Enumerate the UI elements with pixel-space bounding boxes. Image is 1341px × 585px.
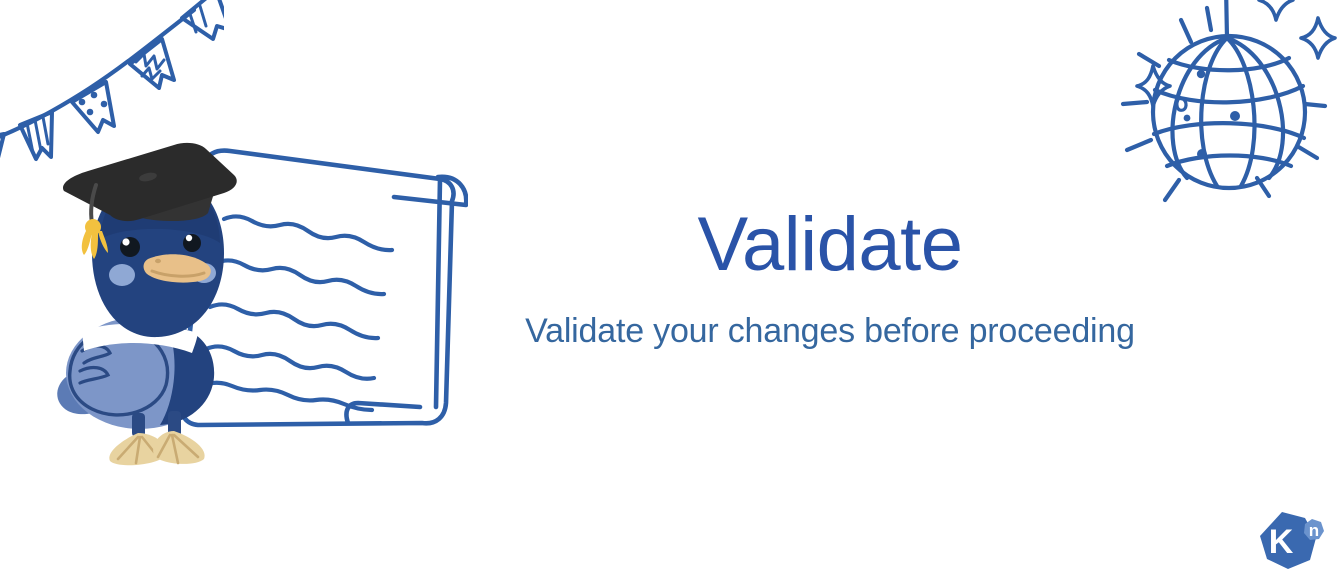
hero-text-block: Validate Validate your changes before pr…	[470, 205, 1190, 352]
slide-root: Validate Validate your changes before pr…	[0, 0, 1341, 585]
logo-badge-letter-n: n	[1309, 521, 1319, 540]
graduate-bird-with-scroll-illustration	[48, 135, 468, 470]
bird-eye	[120, 237, 140, 257]
bird-eye	[183, 234, 201, 252]
brand-logo[interactable]: K n	[1256, 508, 1328, 574]
bunting-flag	[182, 0, 224, 39]
page-title: Validate	[470, 205, 1190, 285]
logo-letter-k: K	[1269, 523, 1294, 561]
bunting-flag	[130, 39, 174, 88]
disco-ball-icon	[1109, 0, 1339, 229]
bunting-flag	[72, 82, 114, 132]
page-subtitle: Validate your changes before proceeding	[470, 311, 1190, 352]
bird-feet	[109, 431, 204, 465]
bunting-flag	[0, 134, 4, 178]
